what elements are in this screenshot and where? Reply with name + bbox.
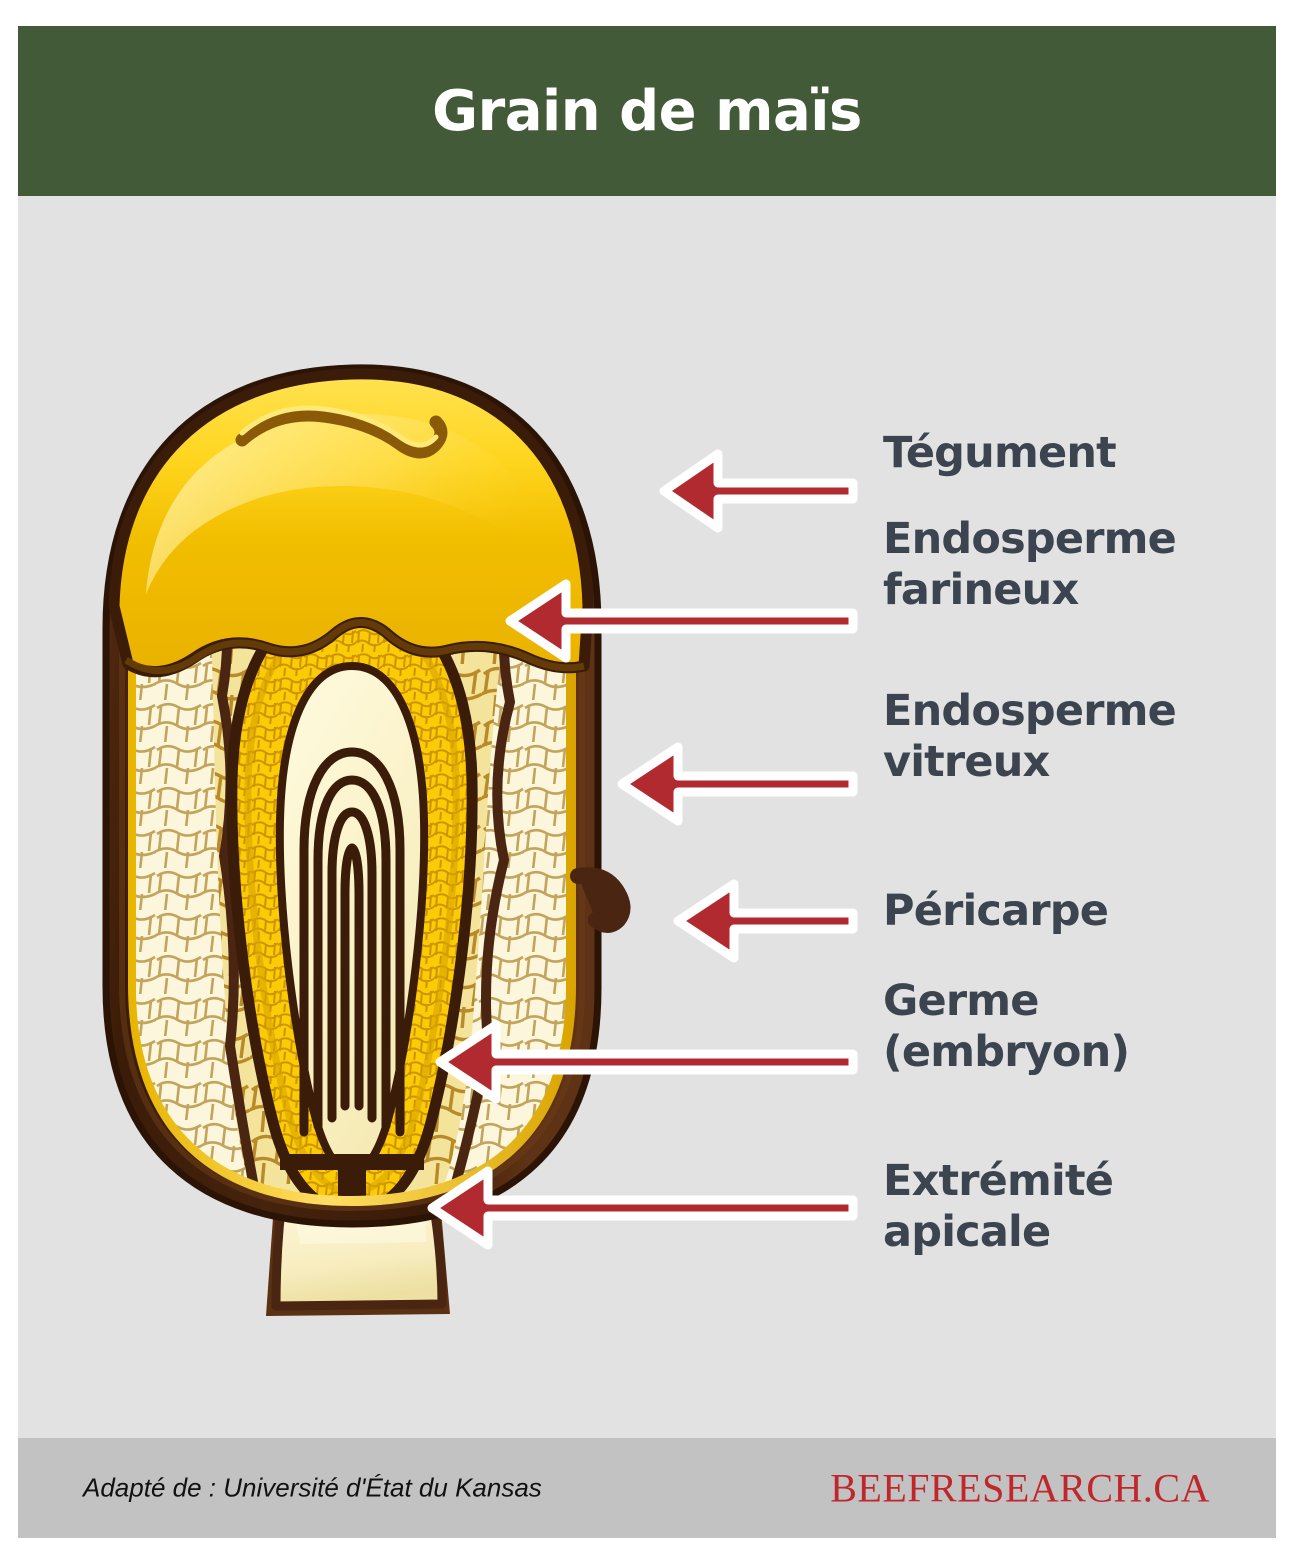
label-extremite-apicale: Extrémité apicale <box>883 1156 1113 1257</box>
arrow-tegument <box>664 454 853 528</box>
poster-footer: Adapté de : Université d'État du Kansas … <box>18 1438 1276 1538</box>
arrow-endosperme-farineux <box>510 584 853 658</box>
page-title: Grain de maïs <box>432 79 862 144</box>
label-endosperme-vitreux: Endosperme vitreux <box>883 686 1176 787</box>
source-attribution: Adapté de : Université d'État du Kansas <box>83 1473 542 1504</box>
arrow-endosperme-vitreux <box>622 747 853 821</box>
corn-kernel-diagram <box>18 196 898 1438</box>
label-germe: Germe (embryon) <box>883 976 1129 1077</box>
beefresearch-logo[interactable]: BEEFRESEARCH.CA <box>830 1465 1210 1512</box>
poster: Grain de maïs <box>18 26 1276 1538</box>
label-pericarpe: Péricarpe <box>883 886 1108 937</box>
poster-header: Grain de maïs <box>18 26 1276 196</box>
diagram-stage: Tégument Endosperme farineux Endosperme … <box>18 196 1276 1438</box>
arrow-pericarpe <box>678 884 853 958</box>
label-column: Tégument Endosperme farineux Endosperme … <box>848 196 1248 1438</box>
label-endosperme-farineux: Endosperme farineux <box>883 514 1176 615</box>
germ-embryo <box>232 594 472 1212</box>
label-tegument: Tégument <box>883 428 1116 479</box>
